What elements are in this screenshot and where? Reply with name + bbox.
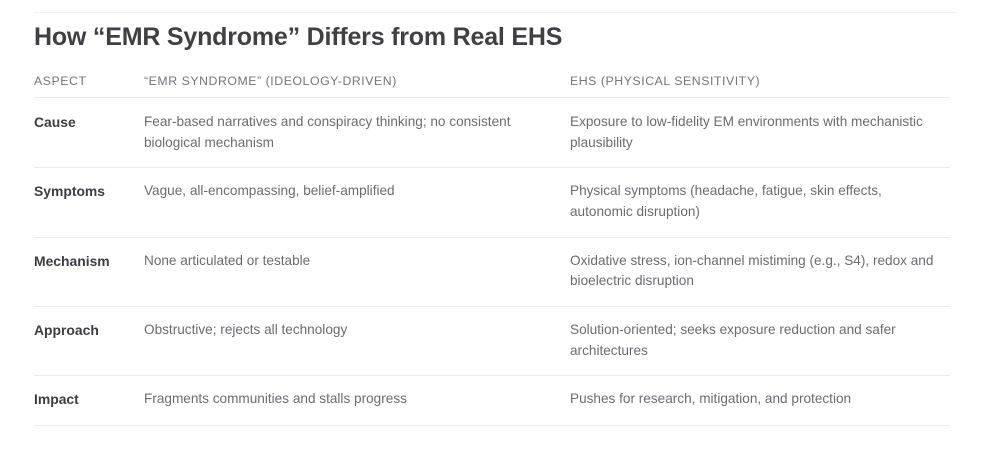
row-emr-value: Fear-based narratives and conspiracy thi… bbox=[144, 98, 570, 168]
content-container: How “EMR Syndrome” Differs from Real EHS… bbox=[34, 22, 955, 426]
row-emr-value: Fragments communities and stalls progres… bbox=[144, 376, 570, 426]
row-aspect-label: Approach bbox=[34, 306, 144, 375]
table-header-row: ASPECT “EMR SYNDROME” (IDEOLOGY-DRIVEN) … bbox=[34, 74, 950, 98]
table-row: Cause Fear-based narratives and conspira… bbox=[34, 98, 950, 168]
row-aspect-label: Cause bbox=[34, 98, 144, 168]
row-emr-value: Vague, all-encompassing, belief-amplifie… bbox=[144, 168, 570, 237]
table-body: Cause Fear-based narratives and conspira… bbox=[34, 98, 950, 426]
row-ehs-value: Physical symptoms (headache, fatigue, sk… bbox=[570, 168, 950, 237]
column-header-emr-syndrome: “EMR SYNDROME” (IDEOLOGY-DRIVEN) bbox=[144, 74, 570, 98]
top-divider bbox=[34, 12, 955, 13]
row-emr-value: Obstructive; rejects all technology bbox=[144, 306, 570, 375]
page-root: How “EMR Syndrome” Differs from Real EHS… bbox=[0, 0, 990, 453]
row-ehs-value: Oxidative stress, ion-channel mistiming … bbox=[570, 237, 950, 306]
row-ehs-value: Pushes for research, mitigation, and pro… bbox=[570, 376, 950, 426]
row-aspect-label: Mechanism bbox=[34, 237, 144, 306]
row-aspect-label: Impact bbox=[34, 376, 144, 426]
column-header-ehs: EHS (PHYSICAL SENSITIVITY) bbox=[570, 74, 950, 98]
table-row: Impact Fragments communities and stalls … bbox=[34, 376, 950, 426]
column-header-aspect: ASPECT bbox=[34, 74, 144, 98]
row-aspect-label: Symptoms bbox=[34, 168, 144, 237]
row-emr-value: None articulated or testable bbox=[144, 237, 570, 306]
page-title: How “EMR Syndrome” Differs from Real EHS bbox=[34, 22, 955, 52]
comparison-table: ASPECT “EMR SYNDROME” (IDEOLOGY-DRIVEN) … bbox=[34, 74, 950, 426]
table-header: ASPECT “EMR SYNDROME” (IDEOLOGY-DRIVEN) … bbox=[34, 74, 950, 98]
row-ehs-value: Exposure to low-fidelity EM environments… bbox=[570, 98, 950, 168]
row-ehs-value: Solution-oriented; seeks exposure reduct… bbox=[570, 306, 950, 375]
table-row: Symptoms Vague, all-encompassing, belief… bbox=[34, 168, 950, 237]
table-row: Mechanism None articulated or testable O… bbox=[34, 237, 950, 306]
table-row: Approach Obstructive; rejects all techno… bbox=[34, 306, 950, 375]
